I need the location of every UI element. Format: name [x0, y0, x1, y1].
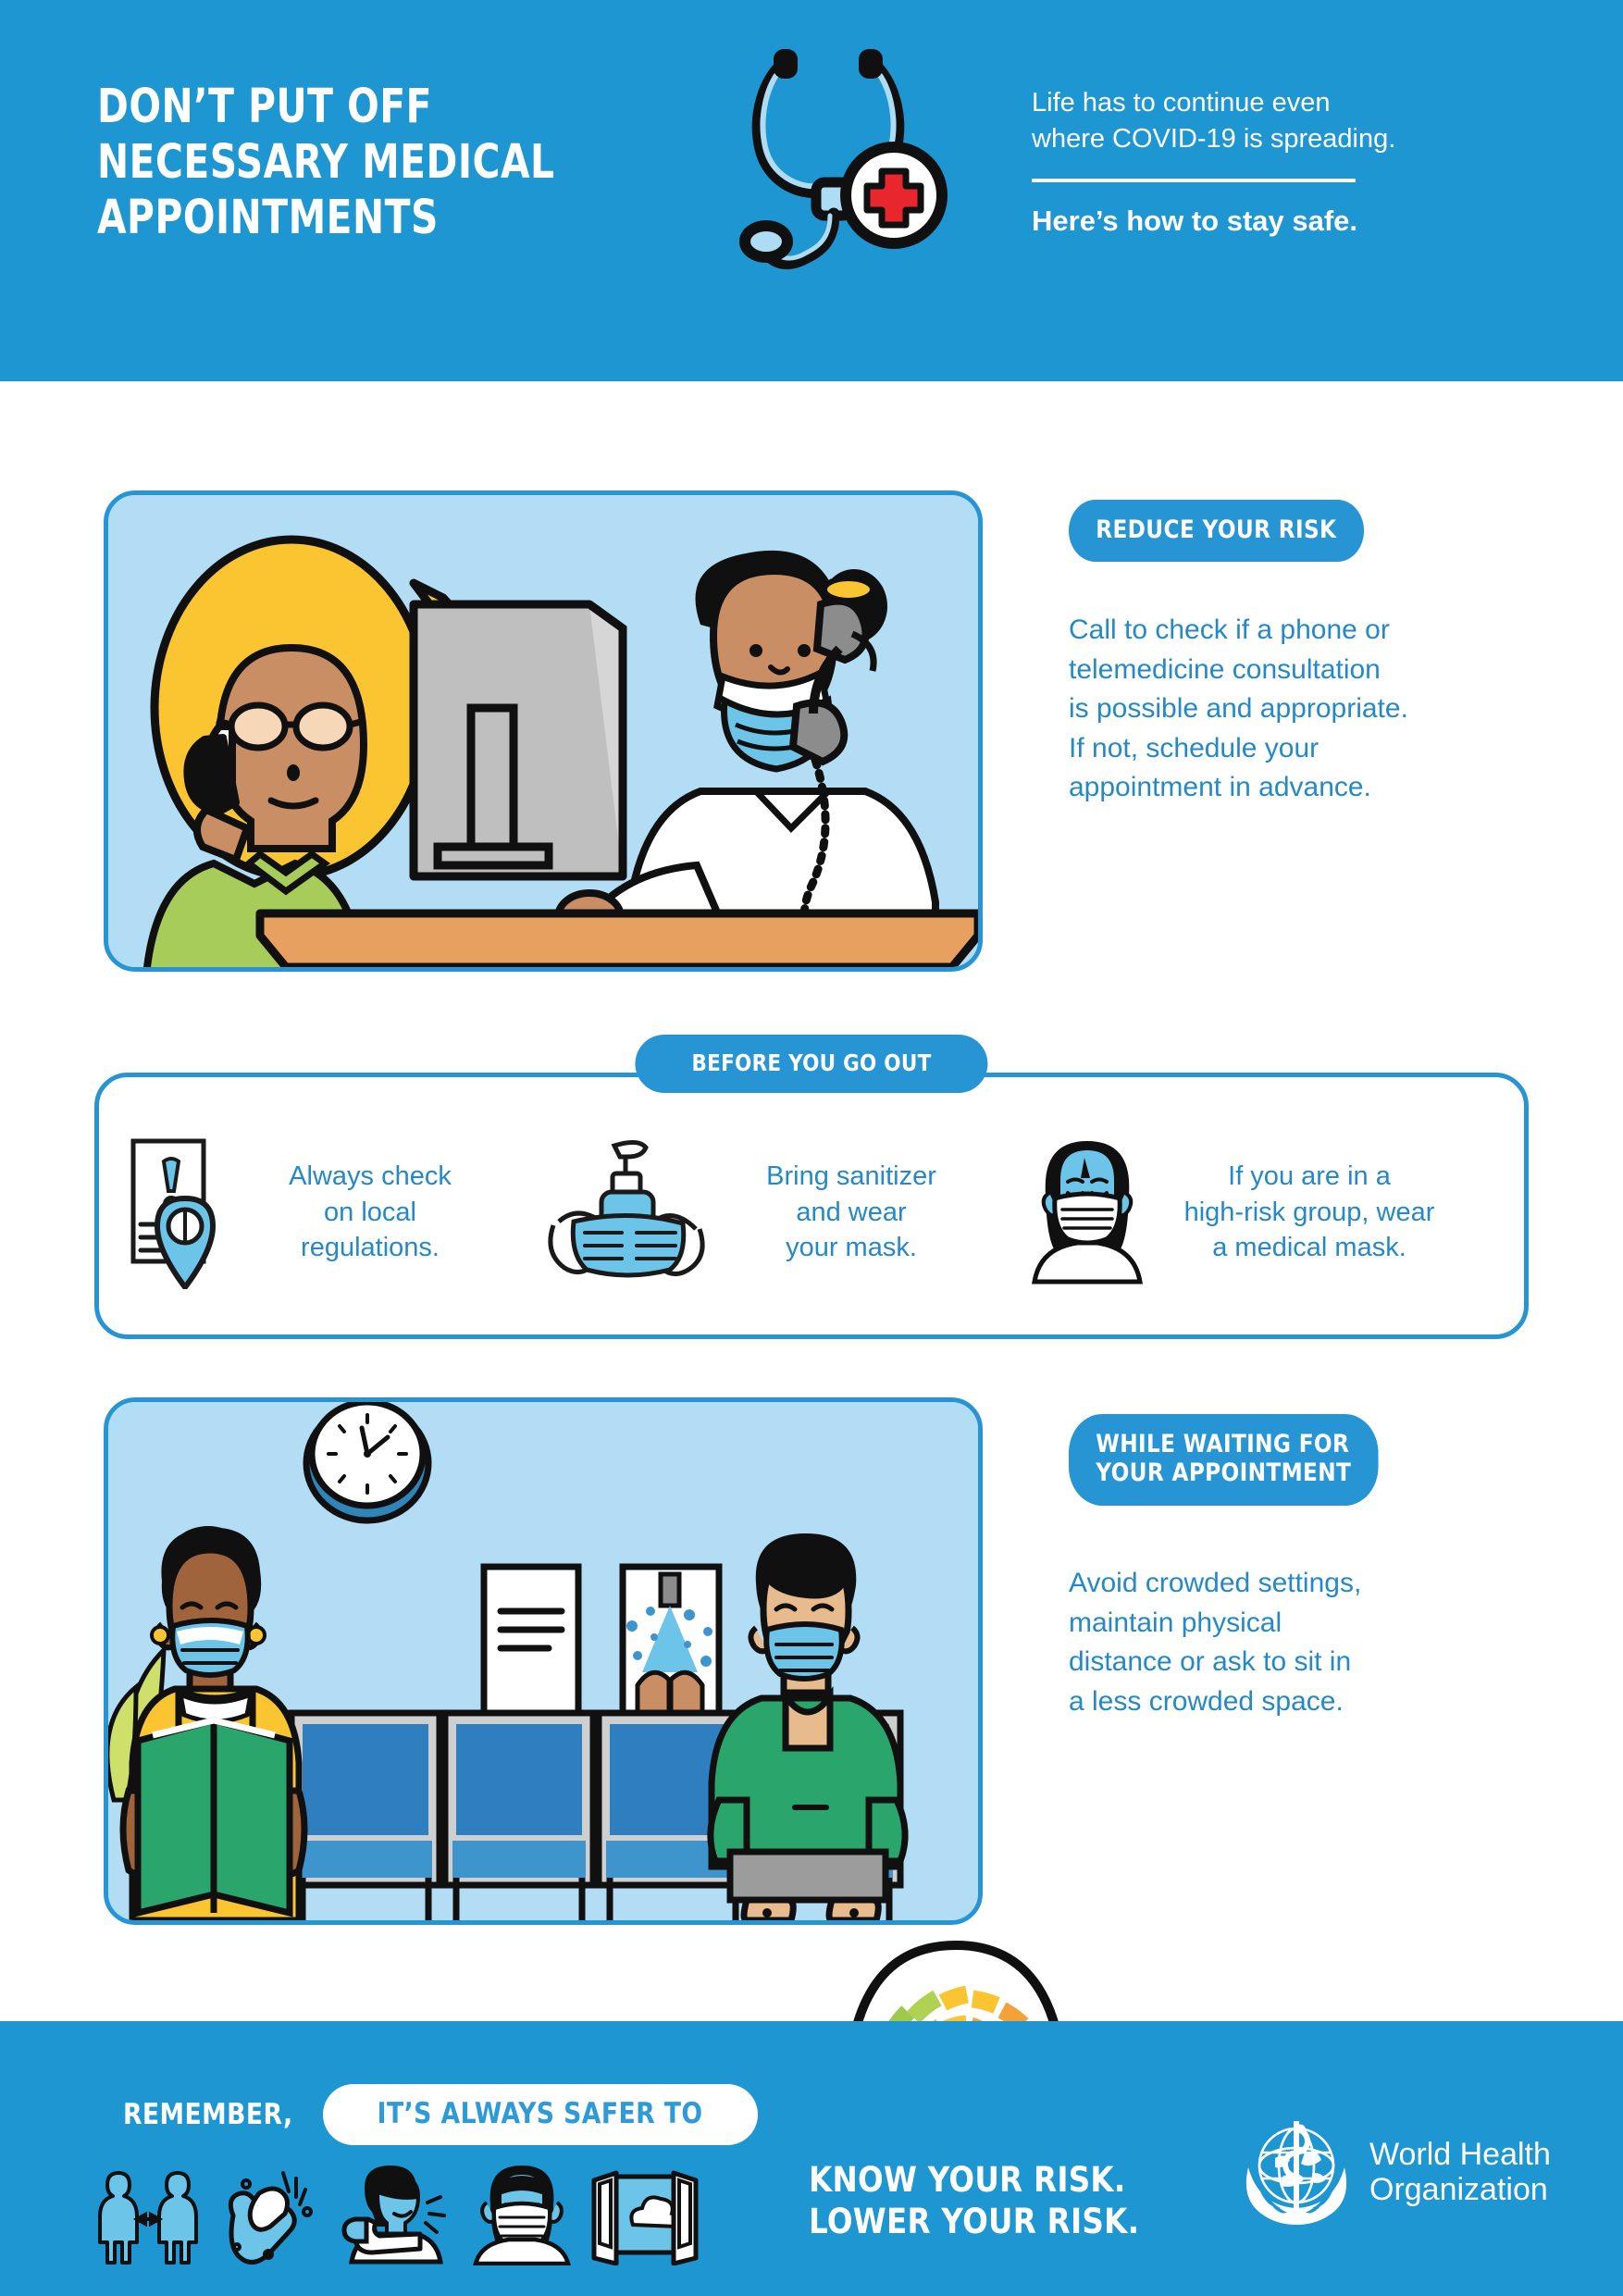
header-divider	[1032, 179, 1356, 182]
list-item: Bring sanitizer and wear your mask.	[546, 1136, 1027, 1289]
section3-body-text: Avoid crowded settings, maintain physica…	[1069, 1564, 1587, 1721]
who-emblem-icon	[1238, 2112, 1355, 2233]
wear-a-mask-icon	[470, 2162, 574, 2270]
who-name-text: World Health Organization	[1369, 2138, 1551, 2207]
list-item: If you are in a high-risk group, wear a …	[1027, 1134, 1499, 1291]
pill-before-you-go-out: Before you go out	[635, 1035, 987, 1093]
safer-behaviour-icons	[93, 2162, 701, 2270]
poster-header: Don’t put off necessary medical appointm…	[0, 0, 1623, 381]
illustration-phone-consultation	[104, 490, 983, 972]
pill-while-waiting: While waiting for your appointment	[1069, 1414, 1378, 1506]
list-item-label: Always check on local regulations.	[231, 1159, 509, 1266]
remember-label: Remember,	[109, 2098, 306, 2131]
remember-label-text: Remember,	[123, 2098, 293, 2131]
person-wearing-medical-mask-icon	[1027, 1134, 1147, 1291]
stethoscope-icon	[712, 32, 972, 273]
know-your-risk-text: Know your risk. Lower your risk.	[809, 2117, 1184, 2242]
physical-distance-icon	[93, 2166, 204, 2270]
header-subtitle: Here’s how to stay safe.	[1032, 203, 1559, 240]
remember-row: Remember, It’s always safer to	[109, 2084, 758, 2145]
header-tagline-block: Life has to continue even where COVID-19…	[1032, 85, 1559, 240]
remember-badge-text: It’s always safer to	[378, 2097, 703, 2130]
wash-hands-icon	[218, 2162, 322, 2270]
list-item-label: Bring sanitizer and wear your mask.	[712, 1159, 990, 1266]
section1-body-text: Call to check if a phone or telemedicine…	[1069, 611, 1587, 808]
list-item-label: If you are in a high-risk group, wear a …	[1147, 1159, 1471, 1266]
know-your-risk-label: Know your risk. Lower your risk.	[809, 2159, 1139, 2242]
pill-reduce-your-risk: Reduce your risk	[1069, 500, 1364, 562]
remember-badge: It’s always safer to	[323, 2084, 757, 2145]
cough-into-elbow-icon	[337, 2162, 455, 2270]
sanitizer-bottle-with-mask-icon	[546, 1136, 712, 1289]
illustration-waiting-room	[104, 1397, 983, 1925]
document-with-location-pin-icon	[120, 1132, 231, 1294]
pill-before-you-go-out-label: Before you go out	[692, 1049, 932, 1076]
page-title: Don’t put off necessary medical appointm…	[97, 80, 556, 247]
open-window-ventilation-icon	[588, 2166, 701, 2270]
header-lead-text: Life has to continue even where COVID-19…	[1032, 85, 1559, 158]
before-you-go-out-items: Always check on local regulations. Bring…	[120, 1115, 1499, 1309]
list-item: Always check on local regulations.	[120, 1132, 546, 1294]
who-logo: World Health Organization	[1238, 2112, 1551, 2233]
